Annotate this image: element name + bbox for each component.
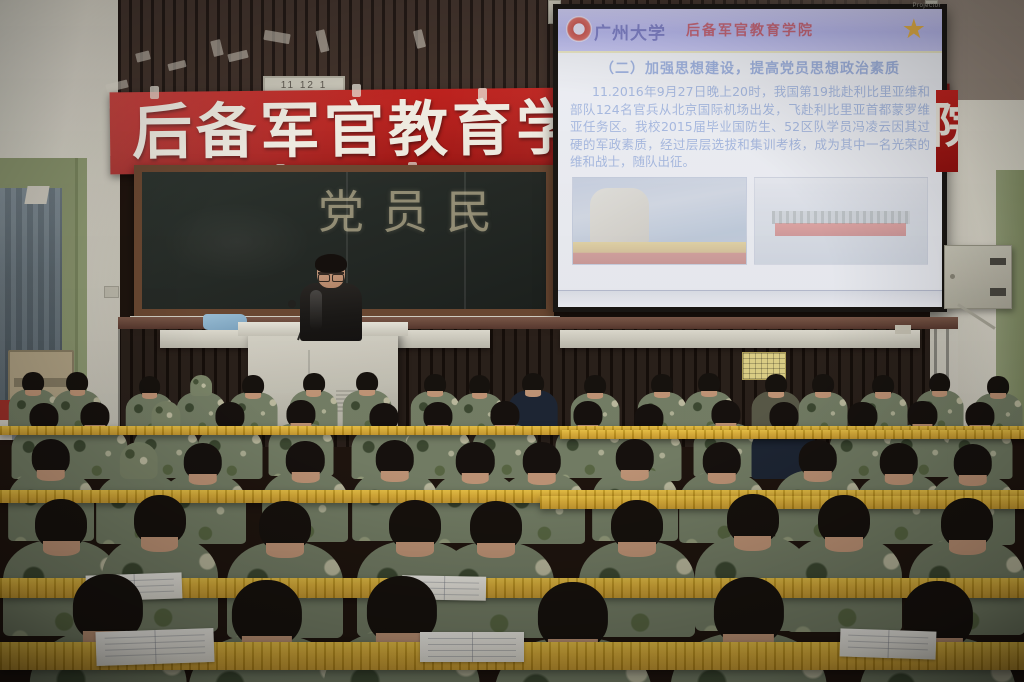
notebook-spine [472,632,473,662]
cadet-head [303,373,325,394]
cadet-head [818,495,870,545]
cadet-head [714,577,784,645]
projector-badge: Projector [912,3,941,9]
cadet-head [35,499,87,549]
slide-photo-row [572,177,928,265]
slide-photo-ceremony [754,177,929,265]
news-ticker-bar [573,242,746,264]
banner-clip [478,88,487,101]
cadet-head [232,580,302,648]
gold-star-icon: ★ [902,15,926,43]
cadet-head [389,500,441,550]
cadet-head [469,375,491,396]
cadet-head [134,495,186,545]
slide-body: （二）加强思想建设，提高党员思想政治素质 11.2016年9月27日晚上20时，… [558,53,942,171]
cadet-head [812,374,834,395]
cadet-head [765,374,787,395]
classroom-photo-scene: 11 12 1 后备军官教育学院 党员民 广州大学 后备军官教育学院 ★ [0,0,1024,682]
open-notebook [95,628,214,666]
cabinet-vent [990,288,1006,296]
banner-sliver-text: 院 [936,92,958,160]
projection-screen-frame: 广州大学 后备军官教育学院 ★ （二）加强思想建设，提高党员思想政治素质 11.… [553,4,947,312]
cadet-head [67,372,89,393]
cabinet-lock-icon [950,274,955,279]
cadet-head [139,376,161,397]
notebook-spine [888,630,890,658]
chalk-smudge [162,202,312,282]
cadet-head [987,376,1009,397]
cadet-head [538,582,608,650]
audience-area [0,330,1024,682]
banner-right-sliver: 院 [936,90,958,172]
microphone-icon [288,300,296,308]
cadet-head [872,375,894,396]
cadet-head [584,375,606,396]
slide-paragraph: 11.2016年9月27日晚上20时，我国第19批赴利比里亚维和部队124名官兵… [570,83,930,171]
cadet-head [712,400,741,428]
desk-row [560,430,1024,439]
cadet-head [523,442,561,479]
banner-clip [352,84,361,97]
cadet-head [908,401,937,429]
open-notebook [840,628,937,659]
cadet-head [698,373,720,394]
cabinet-vent [990,258,1006,265]
cadet-head [456,442,494,479]
curtain-fold [24,186,49,204]
slide-footer-bar [558,290,942,307]
cadet-head [286,441,324,478]
cadet-cap [120,442,158,479]
electrical-cabinet [944,245,1012,309]
cadet-head [929,373,951,394]
cadet-head [799,440,837,477]
open-notebook [420,632,524,662]
cadet-head [703,442,741,479]
slide-photo-news [572,177,747,265]
cadet-head [470,501,522,551]
cadet-head [375,440,413,477]
cadet-head [286,400,315,428]
projection-screen: 广州大学 后备军官教育学院 ★ （二）加强思想建设，提高党员思想政治素质 11.… [558,9,942,307]
cadet-head [424,374,446,395]
cadet-head [941,498,993,548]
cadet-head [573,401,602,429]
cadet-head [259,501,311,551]
lecturer-hair [315,254,347,273]
blackboard-chalk-text: 党员民 [318,182,510,242]
cadet-head [184,443,222,480]
cadet-head [616,439,654,476]
wall-outlet [104,286,119,298]
cadet-head [242,375,264,396]
slide-header: 广州大学 后备军官教育学院 ★ [558,9,942,53]
cadet-head [32,439,70,476]
glasses-icon [318,272,344,280]
cadet-head [611,500,663,550]
cadet-head [727,494,779,544]
cadet-head [880,443,918,480]
cadet-head [652,374,674,395]
jacket-highlight [310,290,322,330]
lecturer [300,256,362,340]
cadet-head [953,444,991,481]
banner-clip [150,86,159,99]
slide-header-title: 后备军官教育学院 [558,20,942,40]
slide-heading: （二）加强思想建设，提高党员思想政治素质 [570,60,930,79]
cadet-head [22,372,44,393]
cadet-head [356,372,378,393]
cadet-cap [190,375,212,396]
cadet-head [522,373,544,394]
